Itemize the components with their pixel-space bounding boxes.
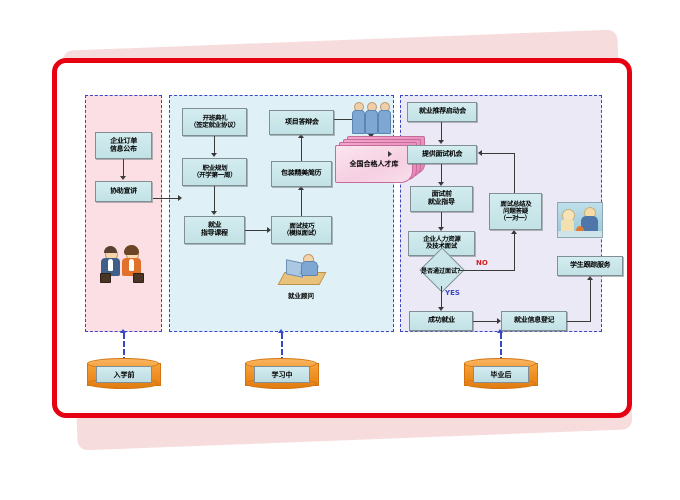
node-resume-package-label: 包装精美简历 <box>281 169 322 177</box>
arrow-left-summary-provide <box>478 150 482 156</box>
arrow-right-pre-mid <box>178 195 182 201</box>
node-pre-interview-line2: 就业指导 <box>428 198 455 206</box>
node-assist-lecture[interactable]: 协助宣讲 <box>95 181 152 202</box>
node-opening-ceremony-line2: （签定就业协议） <box>189 121 239 129</box>
edge-summary-to-provide-v <box>514 153 515 193</box>
arrow-right-pool-post <box>388 151 392 157</box>
node-enterprise-order[interactable]: 企业订单 信息公布 <box>95 132 152 159</box>
stage-label-post: 毕业后 <box>491 370 512 380</box>
node-register-label: 就业信息登记 <box>514 316 555 324</box>
edge-provide-to-pre <box>441 164 442 183</box>
node-interview-summary-qa[interactable]: 面试总结及 问题答疑 （一对一） <box>489 193 542 230</box>
node-project-defense[interactable]: 项目答辩会 <box>269 110 334 135</box>
node-assist-lecture-label: 协助宣讲 <box>110 187 137 195</box>
edge-pre-to-hr <box>441 212 442 228</box>
edge-no-branch-h <box>458 270 515 271</box>
node-interview-skill-line2: （模拟面试） <box>283 229 321 237</box>
node-provide-interview-label: 提供面试机会 <box>422 150 463 158</box>
arrow-up-mid-panel <box>278 329 284 333</box>
arrow-down-kickoff-provide <box>438 140 444 144</box>
advisor-caption: 就业顾问 <box>268 290 334 300</box>
node-career-course[interactable]: 就业 指导课程 <box>184 216 245 244</box>
candidates-trio-icon <box>352 102 396 136</box>
flowchart-area: 企业订单 信息公布 协助宣讲 <box>52 58 632 418</box>
edge-skill-to-resume <box>301 190 302 216</box>
node-employment-register[interactable]: 就业信息登记 <box>501 311 567 331</box>
node-project-defense-label: 项目答辩会 <box>285 118 319 126</box>
edge-label-yes: YES <box>445 289 460 297</box>
node-summary-line3: （一对一） <box>499 214 530 222</box>
edge-order-to-lecture <box>123 159 124 177</box>
edge-yes-branch <box>441 286 442 308</box>
node-enterprise-order-line2: 信息公布 <box>110 145 137 153</box>
edge-course-to-skill <box>245 230 268 231</box>
edge-ceremony-to-plan <box>214 136 215 154</box>
arrow-down-plan-course <box>211 211 217 215</box>
node-recommend-kickoff-label: 就业推荐启动会 <box>418 107 465 115</box>
arrow-up-post-panel <box>497 329 503 333</box>
edge-resume-to-defense <box>301 138 302 161</box>
before-enrollment-panel <box>85 95 162 332</box>
edge-no-branch-v <box>514 234 515 271</box>
arrow-up-pre-panel <box>120 329 126 333</box>
stage-cylinder-pre[interactable]: 入学前 <box>87 358 159 388</box>
node-student-tracking-service[interactable]: 学生跟踪服务 <box>557 256 623 276</box>
edge-label-no: NO <box>476 259 488 267</box>
arrow-up-register-track <box>587 276 593 280</box>
arrow-up-no-summary <box>511 230 517 234</box>
stage-cylinder-post[interactable]: 毕业后 <box>464 358 536 388</box>
node-resume-package[interactable]: 包装精美简历 <box>271 161 332 187</box>
edge-plan-to-course <box>214 186 215 212</box>
edge-summary-to-provide-h <box>482 153 515 154</box>
business-people-icon <box>98 244 152 284</box>
edge-pre-to-mid <box>153 198 179 199</box>
employment-advisor-icon <box>277 254 325 288</box>
diagram-canvas: 企业订单 信息公布 协助宣讲 <box>0 0 680 500</box>
stage-cylinder-mid[interactable]: 学习中 <box>245 358 317 388</box>
node-recommend-kickoff[interactable]: 就业推荐启动会 <box>407 102 477 122</box>
edge-success-to-register <box>473 321 498 322</box>
stage-label-pre: 入学前 <box>114 370 135 380</box>
node-career-course-line2: 指导课程 <box>201 229 228 237</box>
arrow-down-order-lecture <box>120 176 126 180</box>
stage-label-mid: 学习中 <box>272 370 293 380</box>
node-talent-pool-label: 全国合格人才库 <box>350 159 399 169</box>
node-interview-skill[interactable]: 面试技巧 （模拟面试） <box>271 216 332 244</box>
edge-register-to-track-v <box>590 280 591 322</box>
node-opening-ceremony[interactable]: 开班典礼 （签定就业协议） <box>182 108 247 136</box>
node-career-plan[interactable]: 职业规划 （开学第一周） <box>182 158 247 186</box>
node-success-label: 成功就业 <box>427 316 454 324</box>
node-student-track-label: 学生跟踪服务 <box>570 261 611 269</box>
consultation-illustration <box>557 202 603 238</box>
edge-kickoff-to-provide <box>441 122 442 141</box>
arrow-down-ceremony-plan <box>211 153 217 157</box>
edge-register-to-track-h <box>567 321 591 322</box>
node-provide-interview[interactable]: 提供面试机会 <box>407 145 477 164</box>
node-pre-interview-guidance[interactable]: 面试前 就业指导 <box>410 186 473 212</box>
node-success-employment[interactable]: 成功就业 <box>409 311 473 331</box>
node-career-plan-line2: （开学第一周） <box>192 171 236 179</box>
